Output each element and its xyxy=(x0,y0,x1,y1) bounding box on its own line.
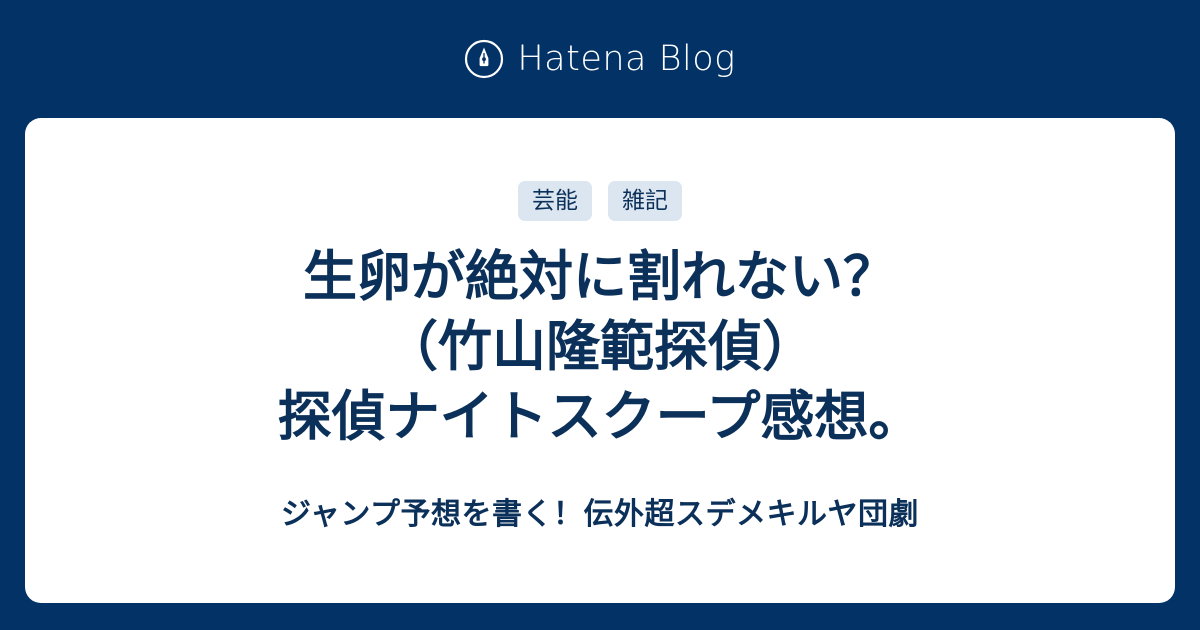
tag-chip[interactable]: 雑記 xyxy=(608,181,682,221)
tag-chip[interactable]: 芸能 xyxy=(518,181,592,221)
blog-name: ジャンプ予想を書く！伝外超スデメキルヤ団劇 xyxy=(100,495,1100,535)
hatena-pen-nib-icon xyxy=(464,39,504,79)
tag-list: 芸能 雑記 xyxy=(518,182,682,220)
entry-title-line: 生卵が絶対に割れない？ xyxy=(100,242,1100,312)
entry-card: 芸能 雑記 生卵が絶対に割れない？ （竹山隆範探偵） 探偵ナイトスクープ感想。 … xyxy=(25,118,1175,603)
entry-title-line: 探偵ナイトスクープ感想。 xyxy=(100,382,1100,452)
hatena-blog-wordmark: Hatena Blog xyxy=(517,42,735,77)
ogp-share-card: Hatena Blog 芸能 雑記 生卵が絶対に割れない？ （竹山隆範探偵） 探… xyxy=(0,0,1200,630)
brand-header: Hatena Blog xyxy=(0,0,1200,118)
entry-title-line: （竹山隆範探偵） xyxy=(100,312,1100,382)
entry-title: 生卵が絶対に割れない？ （竹山隆範探偵） 探偵ナイトスクープ感想。 xyxy=(100,242,1100,452)
